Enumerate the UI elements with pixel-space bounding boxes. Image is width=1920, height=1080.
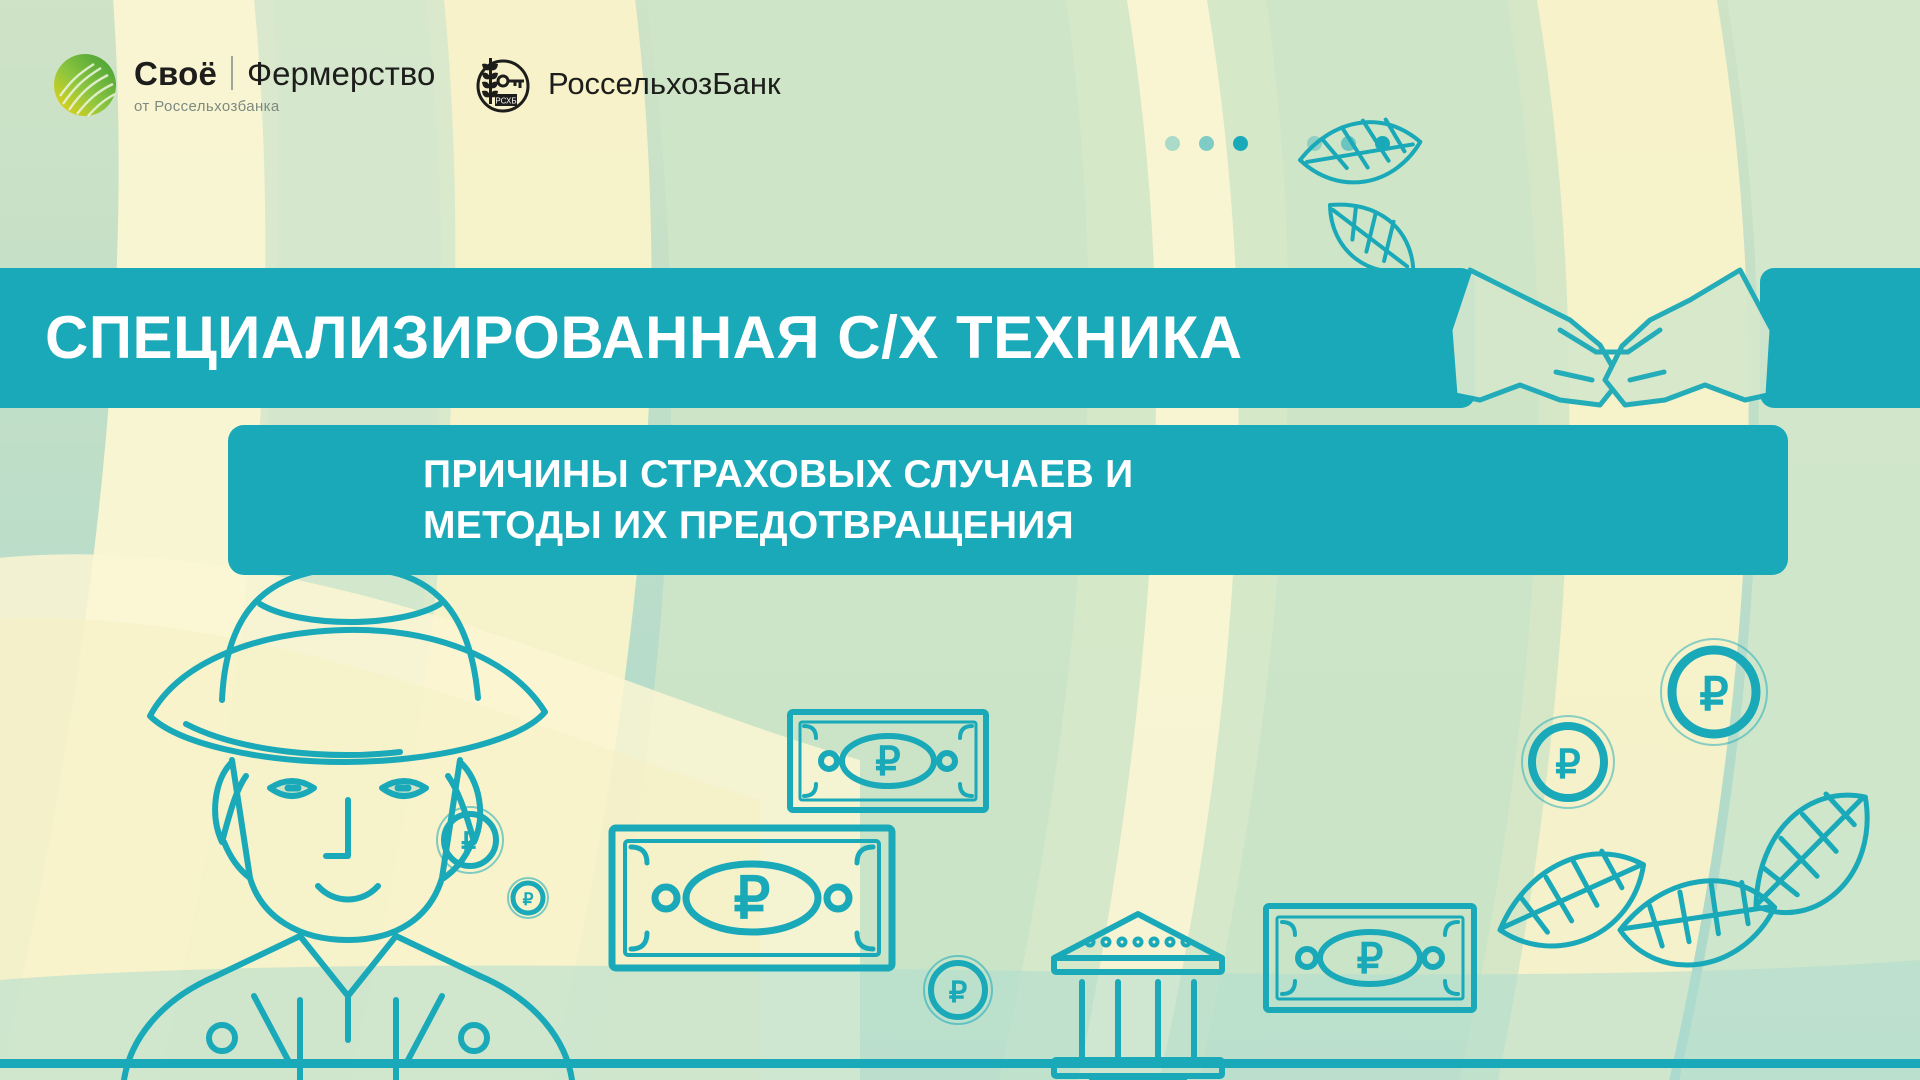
decorative-dots (1165, 136, 1390, 151)
dot-4 (1307, 136, 1322, 151)
dot-5 (1341, 136, 1356, 151)
subtitle-banner: ПРИЧИНЫ СТРАХОВЫХ СЛУЧАЕВ И МЕТОДЫ ИХ ПР… (228, 425, 1788, 575)
header: Своё Фермерство от Россельхозбанка (0, 0, 1920, 190)
dot-2 (1199, 136, 1214, 151)
svoe-leaf-icon (52, 52, 118, 118)
svoe-farming-logo[interactable]: Своё Фермерство от Россельхозбанка (52, 52, 435, 118)
dot-3 (1233, 136, 1248, 151)
logo-divider (231, 56, 233, 90)
dot-6 (1375, 136, 1390, 151)
svg-text:РСХБ: РСХБ (495, 97, 516, 106)
page-title: СПЕЦИАЛИЗИРОВАННАЯ С/Х ТЕХНИКА (0, 308, 1243, 368)
subtitle-line-2: МЕТОДЫ ИХ ПРЕДОТВРАЩЕНИЯ (423, 500, 1074, 551)
svoe-tagline: от Россельхозбанка (134, 98, 435, 115)
subtitle-line-1: ПРИЧИНЫ СТРАХОВЫХ СЛУЧАЕВ И (423, 449, 1134, 500)
dot-group-gap (1267, 143, 1288, 144)
svoe-word-secondary: Фермерство (247, 57, 435, 90)
svoe-logo-text: Своё Фермерство от Россельхозбанка (134, 52, 435, 115)
slide-root: Своё Фермерство от Россельхозбанка (0, 0, 1920, 1080)
rshb-wheat-key-icon: РСХБ (470, 52, 532, 114)
main-title-banner-right-stub (1760, 268, 1920, 408)
rshb-name: РоссельхозБанк (548, 68, 781, 99)
main-title-banner: СПЕЦИАЛИЗИРОВАННАЯ С/Х ТЕХНИКА (0, 268, 1475, 408)
dot-1 (1165, 136, 1180, 151)
rshb-logo[interactable]: РСХБ РоссельхозБанк (470, 52, 781, 114)
ground-line (0, 1059, 1920, 1068)
svoe-word-primary: Своё (134, 57, 217, 90)
